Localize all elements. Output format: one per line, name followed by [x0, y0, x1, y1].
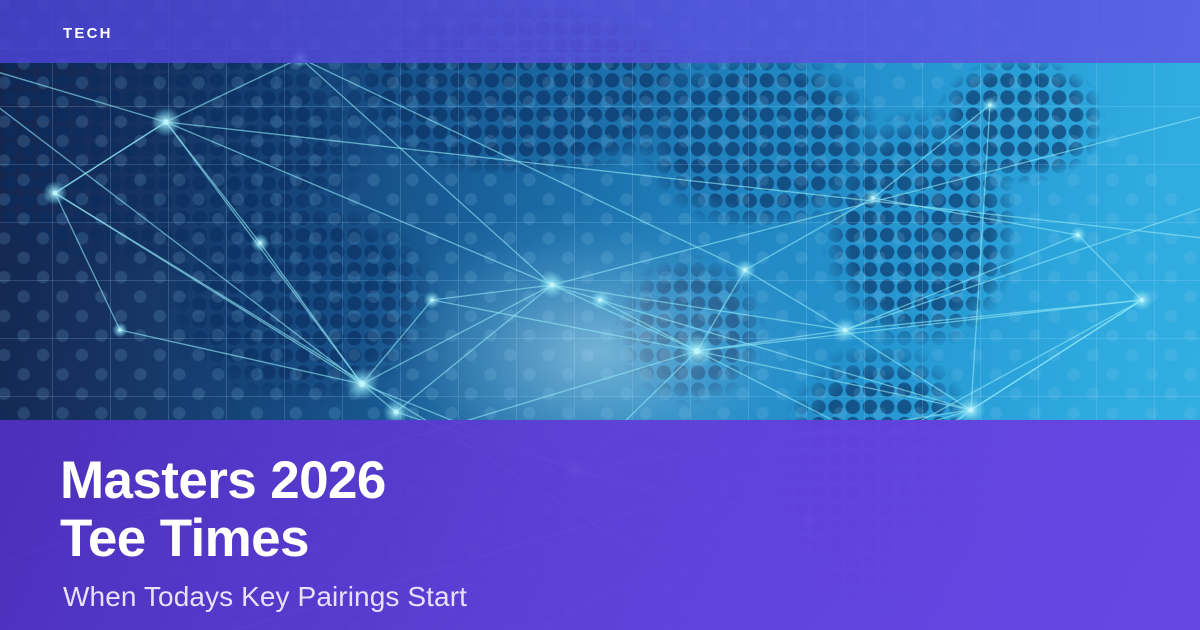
page-title-line-1: Masters 2026 — [60, 452, 386, 510]
network-edge — [166, 122, 260, 243]
network-edge — [300, 58, 745, 270]
network-node — [258, 241, 261, 244]
network-edge — [971, 105, 990, 410]
network-edge — [166, 122, 362, 384]
network-edge — [697, 351, 971, 410]
network-node — [1077, 234, 1080, 237]
network-node — [163, 119, 168, 124]
network-edge — [745, 198, 873, 270]
network-node — [53, 191, 57, 195]
network-edge — [166, 58, 300, 122]
network-edge — [362, 285, 552, 384]
network-node — [694, 348, 700, 354]
network-edge — [745, 270, 845, 330]
network-node — [989, 104, 992, 107]
network-node — [1140, 298, 1144, 302]
network-node — [871, 196, 874, 199]
network-node — [394, 410, 398, 414]
network-edge — [432, 300, 697, 351]
network-edge — [432, 285, 552, 300]
network-node — [550, 283, 555, 288]
network-node — [743, 268, 747, 272]
network-node — [598, 298, 601, 301]
network-edge — [845, 330, 971, 410]
network-node — [359, 381, 365, 387]
page-title-line-2: Tee Times — [60, 510, 386, 568]
network-edge — [300, 58, 552, 285]
network-node — [119, 329, 122, 332]
network-edge — [873, 198, 1078, 235]
top-category-band — [0, 0, 1200, 63]
network-edge — [55, 122, 166, 193]
category-kicker: TECH — [63, 25, 113, 43]
network-edge — [166, 122, 552, 285]
network-edge — [873, 105, 990, 198]
network-edge — [552, 285, 697, 351]
network-edge — [260, 243, 362, 384]
network-edge — [845, 235, 1078, 330]
network-edge — [600, 300, 971, 410]
network-edge — [552, 60, 1200, 285]
network-edge — [1078, 235, 1142, 300]
network-edge — [396, 285, 552, 412]
network-edge — [166, 122, 1200, 260]
page-title: Masters 2026 Tee Times — [60, 452, 386, 568]
social-share-card: TECH Masters 2026 Tee Times When Todays … — [0, 0, 1200, 630]
network-node — [969, 408, 974, 413]
page-subtitle: When Todays Key Pairings Start — [63, 580, 467, 614]
network-node — [843, 328, 847, 332]
network-node — [431, 299, 434, 302]
